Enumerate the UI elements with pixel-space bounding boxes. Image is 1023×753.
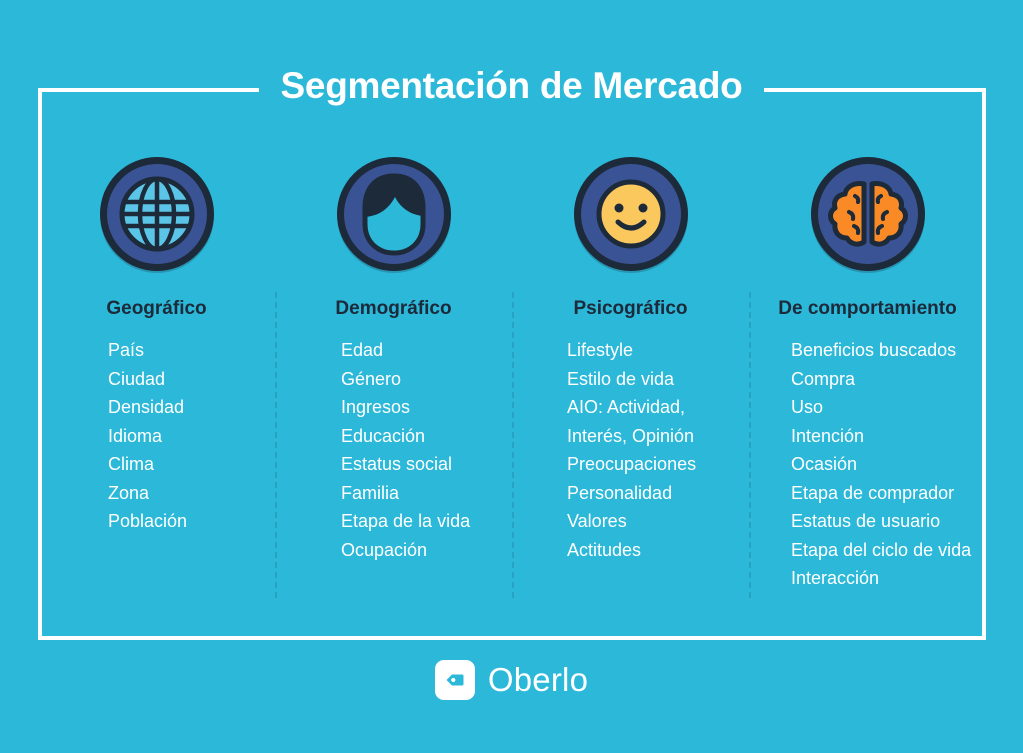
- list-item: Preocupaciones: [567, 450, 749, 479]
- list-item: Ciudad: [108, 365, 275, 394]
- page-title: Segmentación de Mercado: [259, 64, 765, 108]
- person-icon: [332, 152, 456, 276]
- list-item: Uso: [791, 393, 986, 422]
- column-title-psicografico: Psicográfico: [573, 298, 687, 320]
- list-item: Educación: [341, 422, 512, 451]
- column-title-de-comportamiento: De comportamiento: [778, 298, 956, 320]
- list-item: AIO: Actividad,: [567, 393, 749, 422]
- list-item: Personalidad: [567, 479, 749, 508]
- list-item: Compra: [791, 365, 986, 394]
- list-item: Interés, Opinión: [567, 422, 749, 451]
- list-de-comportamiento: Beneficios buscados Compra Uso Intención…: [749, 336, 986, 593]
- smiley-face-icon: [569, 152, 693, 276]
- list-item: Beneficios buscados: [791, 336, 986, 365]
- segmentation-columns: Geográfico País Ciudad Densidad Idioma C…: [38, 140, 986, 620]
- list-geografico: País Ciudad Densidad Idioma Clima Zona P…: [38, 336, 275, 536]
- column-de-comportamiento: De comportamiento Beneficios buscados Co…: [749, 140, 986, 620]
- list-item: Densidad: [108, 393, 275, 422]
- column-title-demografico: Demográfico: [335, 298, 451, 320]
- column-geografico: Geográfico País Ciudad Densidad Idioma C…: [38, 140, 275, 620]
- globe-icon: [95, 152, 219, 276]
- list-item: Familia: [341, 479, 512, 508]
- column-psicografico: Psicográfico Lifestyle Estilo de vida AI…: [512, 140, 749, 620]
- list-item: Etapa de la vida: [341, 507, 512, 536]
- list-item: Valores: [567, 507, 749, 536]
- brand-name: Oberlo: [488, 662, 588, 698]
- column-demografico: Demográfico Edad Género Ingresos Educaci…: [275, 140, 512, 620]
- list-item: Clima: [108, 450, 275, 479]
- list-item: Ocupación: [341, 536, 512, 565]
- list-item: Estatus de usuario: [791, 507, 986, 536]
- list-item: Edad: [341, 336, 512, 365]
- list-item: Etapa de comprador: [791, 479, 986, 508]
- list-item: Estilo de vida: [567, 365, 749, 394]
- brain-icon: [806, 152, 930, 276]
- column-title-geografico: Geográfico: [106, 298, 206, 320]
- oberlo-tag-icon: [435, 660, 475, 700]
- list-item: Interacción: [791, 564, 986, 593]
- footer-branding: Oberlo: [0, 660, 1023, 700]
- infographic-canvas: Segmentación de Mercado: [0, 0, 1023, 753]
- list-psicografico: Lifestyle Estilo de vida AIO: Actividad,…: [512, 336, 749, 564]
- list-item: Ocasión: [791, 450, 986, 479]
- title-row: Segmentación de Mercado: [0, 62, 1023, 110]
- list-item: Ingresos: [341, 393, 512, 422]
- list-item: Género: [341, 365, 512, 394]
- list-item: Etapa del ciclo de vida: [791, 536, 986, 565]
- list-item: Idioma: [108, 422, 275, 451]
- list-item: Lifestyle: [567, 336, 749, 365]
- list-demografico: Edad Género Ingresos Educación Estatus s…: [275, 336, 512, 564]
- list-item: Población: [108, 507, 275, 536]
- list-item: Zona: [108, 479, 275, 508]
- list-item: Estatus social: [341, 450, 512, 479]
- list-item: Actitudes: [567, 536, 749, 565]
- list-item: Intención: [791, 422, 986, 451]
- list-item: País: [108, 336, 275, 365]
